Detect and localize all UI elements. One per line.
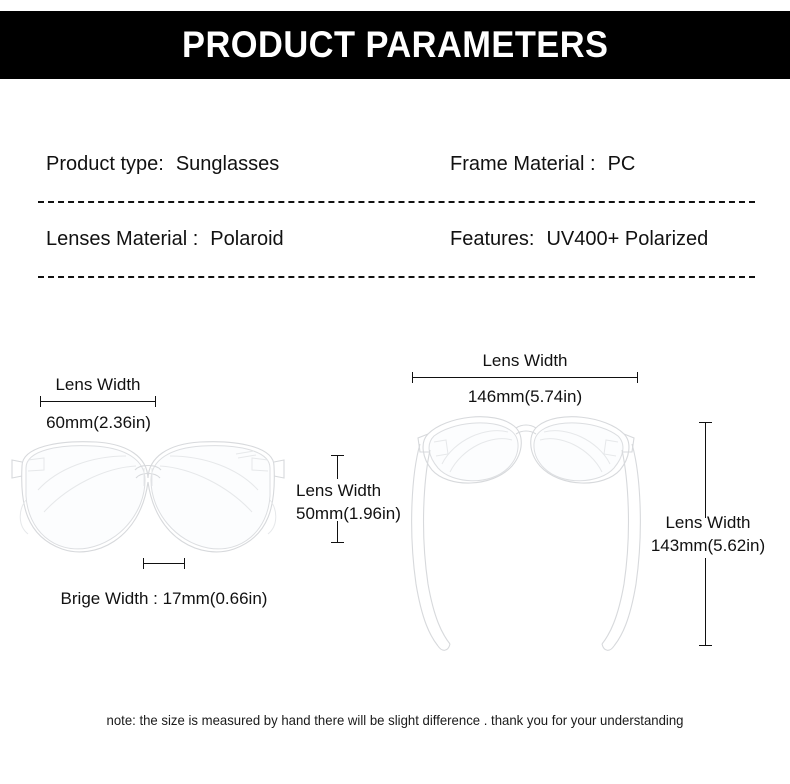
- spec-cell-product-type: Product type: Sunglasses: [38, 128, 444, 201]
- top-frame-width-dimension-bar: [412, 372, 638, 383]
- spec-key: Lenses Material :: [46, 228, 198, 251]
- bridge-width-dimension-bar: [143, 558, 185, 569]
- spec-cell-frame-material: Frame Material : PC: [444, 128, 755, 201]
- top-frame-width-label: Lens Width: [412, 350, 638, 373]
- spec-key: Features:: [450, 228, 534, 251]
- spec-cell-features: Features: UV400+ Polarized: [444, 203, 755, 276]
- lens-height-value: 50mm(1.96in): [296, 504, 401, 523]
- temple-length-label: Lens Width 143mm(5.62in): [634, 512, 782, 558]
- spec-key: Product type:: [46, 153, 164, 176]
- footer-note: note: the size is measured by hand there…: [24, 712, 767, 728]
- header-banner: PRODUCT PARAMETERS: [0, 11, 790, 79]
- temple-length-dimension-top: [699, 422, 712, 518]
- dimension-cap-right: [155, 396, 156, 407]
- diagram-area: Lens Width 60mm(2.36in): [0, 330, 790, 680]
- spec-row: Product type: Sunglasses Frame Material …: [38, 128, 755, 203]
- spec-value: PC: [608, 153, 636, 176]
- temple-length-value: 143mm(5.62in): [651, 536, 765, 555]
- dimension-cap-right: [184, 558, 185, 569]
- dimension-cap-left: [143, 558, 144, 569]
- dimension-cap-bottom: [699, 645, 712, 646]
- dimension-cap-right: [637, 372, 638, 383]
- spec-cell-lenses-material: Lenses Material : Polaroid: [38, 203, 444, 276]
- lens-height-dimension-bottom: [331, 521, 344, 543]
- lens-height-label-text: Lens Width: [296, 481, 381, 500]
- spec-table: Product type: Sunglasses Frame Material …: [38, 128, 755, 278]
- spec-value: Polaroid: [210, 228, 283, 251]
- lens-height-dimension-top: [331, 455, 344, 479]
- dimension-cap-top: [331, 455, 344, 456]
- spec-row: Lenses Material : Polaroid Features: UV4…: [38, 203, 755, 278]
- front-lens-width-value: 60mm(2.36in): [26, 412, 171, 435]
- top-frame-width-value: 146mm(5.74in): [405, 386, 645, 409]
- spec-value: UV400+ Polarized: [546, 228, 708, 251]
- spec-value: Sunglasses: [176, 153, 279, 176]
- lens-height-label: Lens Width 50mm(1.96in): [296, 480, 404, 526]
- dimension-cap-top: [699, 422, 712, 423]
- glasses-front-view-illustration: [8, 438, 288, 568]
- front-lens-width-dimension-bar: [40, 396, 156, 407]
- dimension-cap-left: [40, 396, 41, 407]
- temple-length-dimension-bottom: [699, 558, 712, 646]
- dimension-cap-left: [412, 372, 413, 383]
- dimension-cap-bottom: [331, 542, 344, 543]
- temple-length-label-text: Lens Width: [665, 513, 750, 532]
- spec-key: Frame Material :: [450, 153, 596, 176]
- front-lens-width-label: Lens Width: [40, 374, 156, 397]
- bridge-width-label: Brige Width : 17mm(0.66in): [28, 588, 300, 611]
- glasses-top-view-illustration: [404, 408, 648, 656]
- page-title: PRODUCT PARAMETERS: [182, 24, 608, 66]
